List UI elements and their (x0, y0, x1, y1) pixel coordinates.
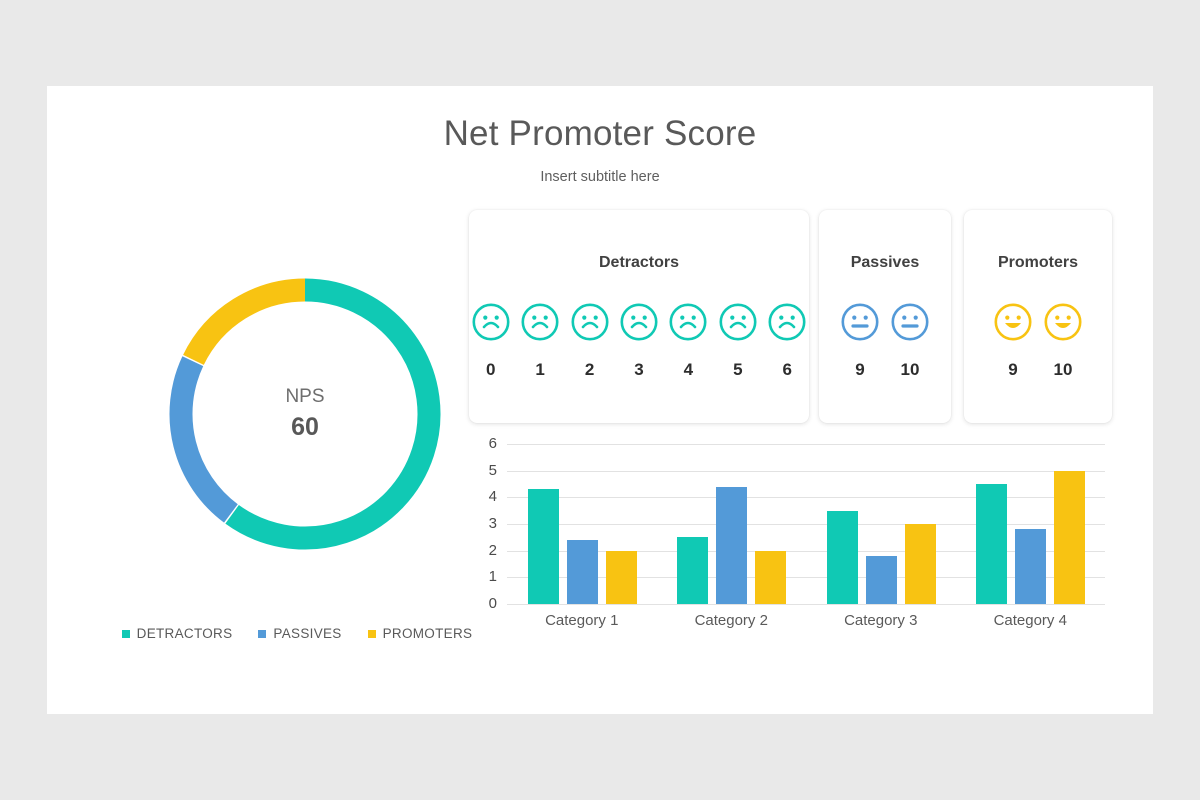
bar-group-1 (528, 444, 637, 604)
card-title-passives: Passives (819, 254, 951, 272)
y-axis-tick-0: 0 (467, 595, 497, 612)
legend-label: DETRACTORS (137, 626, 233, 641)
score-item-promoters-9[interactable]: 9 (991, 302, 1035, 380)
face-row-passives: 910 (819, 302, 951, 380)
gridline (507, 604, 1105, 605)
sad-face-icon (570, 302, 610, 347)
bar-promoters-2[interactable] (755, 551, 786, 604)
x-axis-label-2: Category 2 (657, 612, 807, 629)
sad-face-icon (718, 302, 758, 347)
sad-face-icon (668, 302, 708, 347)
score-number: 9 (855, 360, 864, 380)
legend-swatch-icon (122, 630, 130, 638)
nps-donut-chart: NPS 60 (157, 266, 453, 562)
card-title-promoters: Promoters (964, 254, 1112, 272)
score-item-detractors-3[interactable]: 3 (617, 302, 660, 380)
sad-face-icon (471, 302, 511, 347)
card-promoters[interactable]: Promoters 910 (964, 210, 1112, 423)
bar-passives-2[interactable] (716, 487, 747, 604)
score-number: 6 (783, 360, 792, 380)
x-axis-label-1: Category 1 (507, 612, 657, 629)
sad-face-icon (767, 302, 807, 347)
bar-passives-4[interactable] (1015, 529, 1046, 604)
donut-legend: DETRACTORSPASSIVESPROMOTERS (87, 626, 507, 641)
bar-promoters-4[interactable] (1054, 471, 1085, 604)
bar-passives-3[interactable] (866, 556, 897, 604)
donut-segment-passives[interactable] (181, 361, 231, 513)
y-axis-tick-6: 6 (467, 435, 497, 452)
y-axis-tick-5: 5 (467, 462, 497, 479)
score-number: 3 (634, 360, 643, 380)
legend-label: PROMOTERS (383, 626, 473, 641)
card-title-detractors: Detractors (469, 254, 809, 272)
bar-group-3 (827, 444, 936, 604)
bar-detractors-3[interactable] (827, 511, 858, 604)
y-axis-tick-1: 1 (467, 568, 497, 585)
score-number: 2 (585, 360, 594, 380)
score-item-detractors-2[interactable]: 2 (568, 302, 611, 380)
legend-item-detractors[interactable]: DETRACTORS (122, 626, 233, 641)
page-title: Net Promoter Score (47, 114, 1153, 154)
score-item-passives-10[interactable]: 10 (888, 302, 932, 380)
bar-promoters-1[interactable] (606, 551, 637, 604)
y-axis-tick-3: 3 (467, 515, 497, 532)
score-number: 0 (486, 360, 495, 380)
sad-face-icon (619, 302, 659, 347)
legend-swatch-icon (258, 630, 266, 638)
donut-segment-promoters[interactable] (193, 290, 305, 360)
category-bar-chart: 0123456 Category 1Category 2Category 3Ca… (461, 444, 1121, 654)
slide-canvas: Net Promoter Score Insert subtitle here … (47, 86, 1153, 714)
happy-face-icon (1043, 302, 1083, 347)
neutral-face-icon (890, 302, 930, 347)
score-item-passives-9[interactable]: 9 (838, 302, 882, 380)
legend-label: PASSIVES (273, 626, 341, 641)
card-passives[interactable]: Passives 910 (819, 210, 951, 423)
score-item-detractors-6[interactable]: 6 (766, 302, 809, 380)
bar-passives-1[interactable] (567, 540, 598, 604)
bar-detractors-2[interactable] (677, 537, 708, 604)
score-item-detractors-0[interactable]: 0 (469, 302, 512, 380)
x-axis-label-3: Category 3 (806, 612, 956, 629)
face-row-detractors: 0123456 (469, 302, 809, 380)
card-detractors[interactable]: Detractors 0123456 (469, 210, 809, 423)
y-axis-tick-4: 4 (467, 488, 497, 505)
score-item-promoters-10[interactable]: 10 (1041, 302, 1085, 380)
donut-segment-detractors[interactable] (232, 290, 429, 538)
score-item-detractors-4[interactable]: 4 (667, 302, 710, 380)
face-row-promoters: 910 (964, 302, 1112, 380)
score-number: 9 (1008, 360, 1017, 380)
neutral-face-icon (840, 302, 880, 347)
bar-chart-x-axis-labels: Category 1Category 2Category 3Category 4 (507, 612, 1105, 629)
legend-swatch-icon (368, 630, 376, 638)
score-number: 4 (684, 360, 693, 380)
score-number: 10 (1054, 360, 1073, 380)
score-item-detractors-5[interactable]: 5 (716, 302, 759, 380)
happy-face-icon (993, 302, 1033, 347)
page-subtitle: Insert subtitle here (47, 169, 1153, 185)
bar-promoters-3[interactable] (905, 524, 936, 604)
legend-item-passives[interactable]: PASSIVES (258, 626, 341, 641)
legend-item-promoters[interactable]: PROMOTERS (368, 626, 473, 641)
score-number: 1 (535, 360, 544, 380)
bar-detractors-4[interactable] (976, 484, 1007, 604)
score-number: 10 (901, 360, 920, 380)
bar-group-2 (677, 444, 786, 604)
sad-face-icon (520, 302, 560, 347)
donut-svg (157, 266, 453, 562)
bar-group-4 (976, 444, 1085, 604)
score-number: 5 (733, 360, 742, 380)
bar-detractors-1[interactable] (528, 489, 559, 604)
score-item-detractors-1[interactable]: 1 (518, 302, 561, 380)
x-axis-label-4: Category 4 (956, 612, 1106, 629)
y-axis-tick-2: 2 (467, 542, 497, 559)
bar-chart-plot-area: 0123456 (507, 444, 1105, 604)
